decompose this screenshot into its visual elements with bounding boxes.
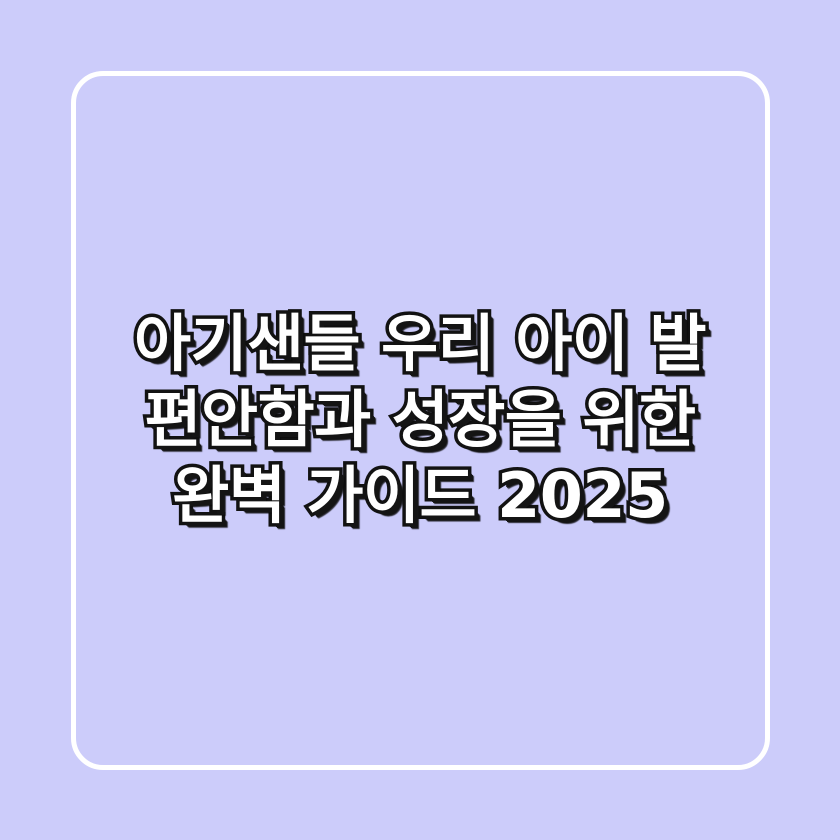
title-line-3: 완벽 가이드 2025 (96, 458, 744, 534)
page-title: 아기샌들 우리 아이 발 편안함과 성장을 위한 완벽 가이드 2025 (0, 0, 840, 840)
title-card: 아기샌들 우리 아이 발 편안함과 성장을 위한 완벽 가이드 2025 (0, 0, 840, 840)
title-line-2: 편안함과 성장을 위한 (96, 382, 744, 458)
title-line-1: 아기샌들 우리 아이 발 (96, 306, 744, 382)
